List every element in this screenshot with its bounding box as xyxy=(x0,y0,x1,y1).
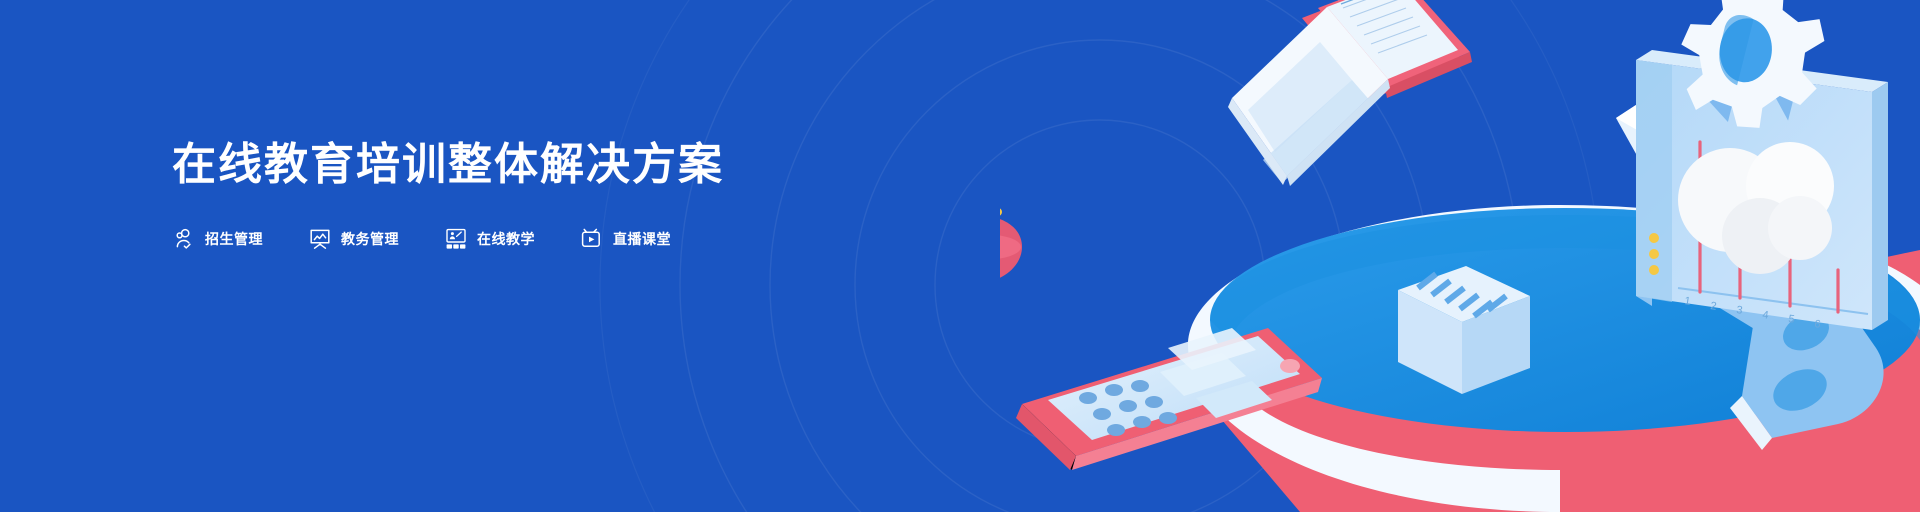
user-group-icon xyxy=(172,227,196,251)
feature-item-zhibo[interactable]: 直播课堂 xyxy=(580,227,671,251)
feature-label: 招生管理 xyxy=(205,229,263,249)
feature-item-zhaosheng[interactable]: 招生管理 xyxy=(172,227,263,251)
hero-text-block: 在线教育培训整体解决方案 招生管理 教务管理 xyxy=(172,140,724,251)
open-book xyxy=(1228,0,1472,186)
feature-item-zaixianjiaoxue[interactable]: 在线教学 xyxy=(444,227,535,251)
feature-item-jiaowu[interactable]: 教务管理 xyxy=(308,227,399,251)
feature-list: 招生管理 教务管理 xyxy=(172,227,724,251)
feature-label: 在线教学 xyxy=(477,229,535,249)
tv-play-icon xyxy=(580,227,604,251)
education-illustration: 1 2 3 4 5 6 xyxy=(1000,0,1920,512)
chart-easel-icon xyxy=(308,227,332,251)
feature-label: 直播课堂 xyxy=(613,229,671,249)
page-title: 在线教育培训整体解决方案 xyxy=(172,140,724,191)
classroom-icon xyxy=(444,227,468,251)
spinning-top xyxy=(1000,208,1022,315)
feature-label: 教务管理 xyxy=(341,229,399,249)
hero-banner: 1 2 3 4 5 6 xyxy=(0,0,1920,512)
